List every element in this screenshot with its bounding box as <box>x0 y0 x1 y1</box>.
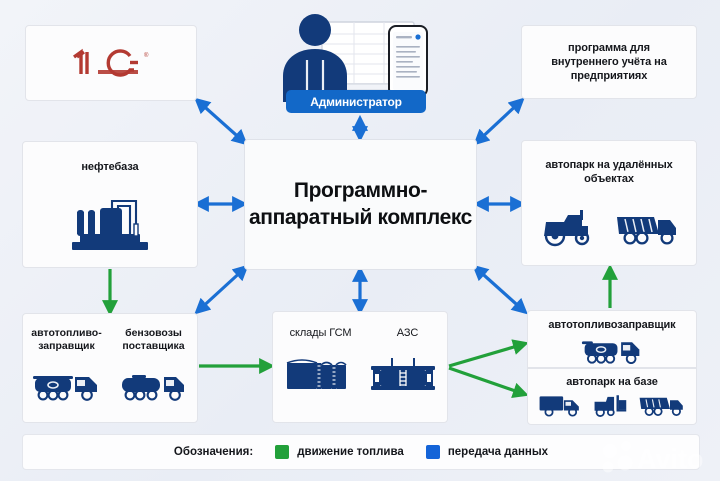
storage-tanks-icon <box>283 354 349 394</box>
forklift-icon <box>591 392 629 418</box>
box-truck-icon <box>538 392 582 418</box>
one-c-logo-icon: ® <box>68 47 154 79</box>
node-tankers-left[interactable]: автотопливо-заправщик бензовозы поставщи… <box>22 313 198 423</box>
depots-label-1: склады ГСМ <box>283 326 359 340</box>
node-depots[interactable]: склады ГСМ АЗС <box>272 311 448 423</box>
data-flow-swatch <box>426 445 440 459</box>
oil-depot-label: нефтебаза <box>81 160 138 174</box>
fuel-tanker-icon <box>118 369 190 403</box>
refinery-icon <box>64 190 156 252</box>
legend-label-data-flow: передача данных <box>448 446 548 458</box>
watermark-text: Avito <box>637 444 704 474</box>
depots-label-2: АЗС <box>378 326 438 340</box>
fuel-tanker-icon <box>31 369 103 403</box>
legend-label-fuel-flow: движение топлива <box>297 446 404 458</box>
administrator-badge: Администратор <box>286 90 426 113</box>
tanker-left-label-2: бензовозы поставщика <box>113 327 195 353</box>
legend-item-data-flow: передача данных <box>426 445 548 459</box>
avito-watermark: Avito <box>596 437 714 477</box>
dump-truck-icon <box>638 392 686 418</box>
dump-truck-icon <box>614 206 680 248</box>
tanker-right-label: автотопливозаправщик <box>548 318 675 332</box>
node-base-fleet[interactable]: автопарк на базе <box>527 368 697 425</box>
node-accounting-program[interactable]: программа для внутреннего учёта на предп… <box>521 25 697 99</box>
node-hub[interactable]: Программно-аппаратный комплекс <box>244 139 477 270</box>
fuel-flow-swatch <box>275 445 289 459</box>
phone-icon <box>389 26 427 96</box>
fuel-tanker-icon <box>579 335 645 366</box>
tanker-left-label-1: автотопливо-заправщик <box>26 327 108 353</box>
node-oil-depot[interactable]: нефтебаза <box>22 141 198 268</box>
node-remote-fleet[interactable]: автопарк на удалённых объектах <box>521 140 697 266</box>
node-tanker-right[interactable]: автотопливозаправщик <box>527 310 697 368</box>
node-1c[interactable]: ® <box>25 25 197 101</box>
gas-station-icon <box>369 352 437 394</box>
legend-item-fuel-flow: движение топлива <box>275 445 404 459</box>
administrator-label: Администратор <box>310 95 402 109</box>
legend-title: Обозначения: <box>174 446 253 458</box>
hub-title: Программно-аппаратный комплекс <box>245 178 476 231</box>
accounting-program-label: программа для внутреннего учёта на предп… <box>534 41 684 83</box>
base-fleet-label: автопарк на базе <box>566 375 657 389</box>
svg-text:®: ® <box>144 52 149 59</box>
tractor-icon <box>538 206 596 248</box>
remote-fleet-label: автопарк на удалённых объектах <box>522 158 696 186</box>
diagram-canvas: Администратор ® нефтебаза <box>0 0 720 481</box>
